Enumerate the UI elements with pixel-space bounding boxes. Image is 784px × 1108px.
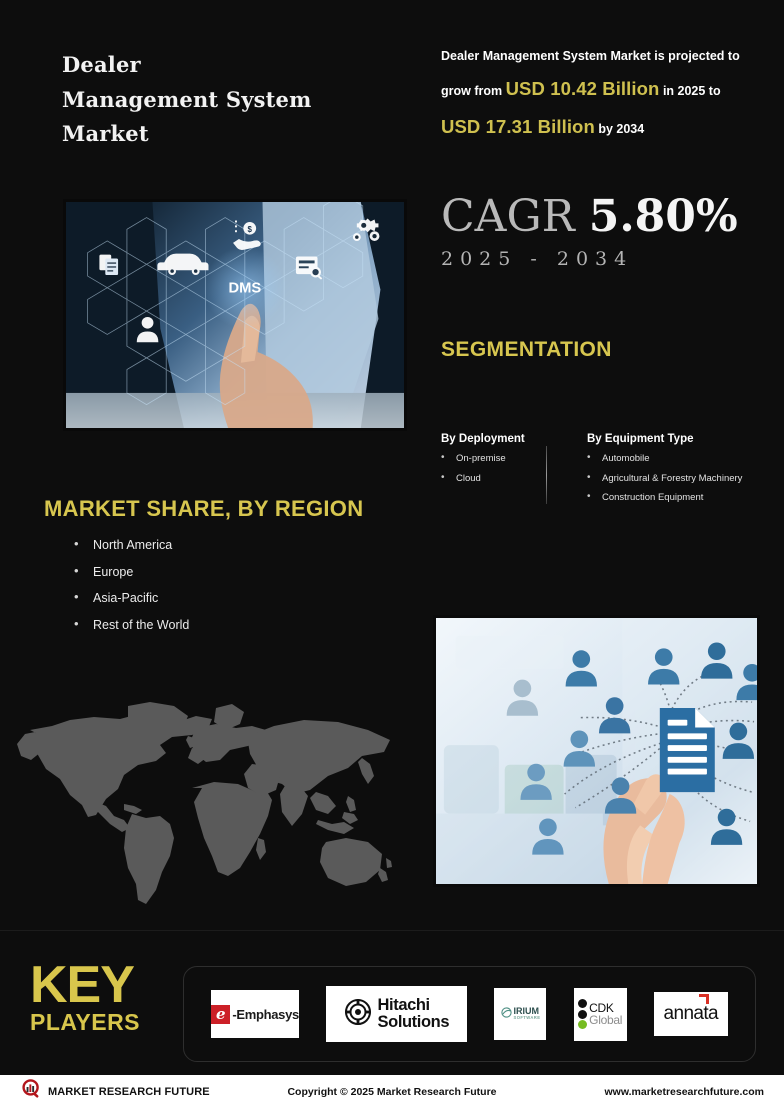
hero-image-dms-hexagons: DMS $	[63, 199, 407, 431]
logo-annata: annata	[654, 992, 728, 1036]
world-map	[0, 692, 420, 920]
segmentation-column-deployment: By Deployment On-premise Cloud	[441, 433, 563, 513]
projection-lead: Dealer Management System Market is proje…	[441, 49, 740, 63]
list-item: Asia-Pacific	[74, 592, 189, 605]
emphasys-mark-icon: e	[211, 1005, 230, 1024]
list-item: On-premise	[441, 454, 563, 464]
key-players-label: KEY PLAYERS	[30, 962, 175, 1035]
page-title-line-1: Dealer	[62, 48, 412, 83]
hitachi-wordmark-line2: Solutions	[378, 1013, 450, 1031]
projection-value-2034: USD 17.31 Billion	[441, 116, 595, 137]
annata-wordmark: annata	[664, 1003, 719, 1024]
segmentation-list-deployment: On-premise Cloud	[441, 454, 563, 483]
hero-image-graphic: DMS $	[66, 202, 404, 428]
emphasys-wordmark: -Emphasys	[232, 1007, 299, 1022]
list-item: Agricultural & Forestry Machinery	[587, 474, 761, 484]
logo-irium-software: IRIUM SOFTWARE	[494, 988, 546, 1040]
list-item: Europe	[74, 566, 189, 579]
segmentation-list-equipment: Automobile Agricultural & Forestry Machi…	[587, 454, 761, 503]
list-item: Automobile	[587, 454, 761, 464]
market-projection-text: Dealer Management System Market is proje…	[441, 44, 751, 145]
cagr-label: CAGR	[441, 191, 575, 242]
cdk-dots-icon	[578, 999, 587, 1029]
hitachi-mark-icon	[345, 999, 371, 1030]
page-title-line-2: Management System	[62, 83, 412, 118]
key-players-divider	[0, 930, 784, 931]
svg-text:$: $	[248, 225, 253, 234]
hero-dms-label: DMS	[228, 281, 261, 297]
segmentation-heading: By Deployment	[441, 433, 563, 445]
annata-mark-icon	[699, 994, 709, 1004]
cagr-block: CAGR 5.80% 2025 - 2034	[441, 195, 761, 270]
list-item: Cloud	[441, 474, 563, 484]
page-title: Dealer Management System Market	[62, 48, 412, 152]
footer-bar: MARKET RESEARCH FUTURE Copyright © 2025 …	[0, 1075, 784, 1108]
projection-value-2025: USD 10.42 Billion	[506, 78, 660, 99]
page-title-line-3: Market	[62, 117, 412, 152]
projection-by-2034: by 2034	[598, 122, 644, 136]
segmentation-column-equipment-type: By Equipment Type Automobile Agricultura…	[563, 433, 761, 513]
irium-subtext: SOFTWARE	[514, 1016, 541, 1020]
key-players-logo-panel: e -Emphasys Hitachi Solutions	[183, 966, 756, 1062]
segmentation-heading: By Equipment Type	[587, 433, 761, 445]
world-map-graphic	[0, 692, 420, 920]
document-icon	[660, 708, 715, 792]
list-item: North America	[74, 539, 189, 552]
network-image-document-people	[433, 615, 760, 887]
footer-url[interactable]: www.marketresearchfuture.com	[604, 1086, 764, 1098]
logo-e-emphasys: e -Emphasys	[211, 990, 299, 1038]
projection-grow-from: grow from	[441, 84, 502, 98]
cagr-value: 5.80%	[589, 191, 738, 242]
key-players-label-players: PLAYERS	[30, 1010, 175, 1035]
hitachi-wordmark-line1: Hitachi	[378, 996, 430, 1014]
key-players-label-key: KEY	[30, 962, 175, 1010]
logo-hitachi-solutions: Hitachi Solutions	[326, 986, 467, 1042]
region-list: North America Europe Asia-Pacific Rest o…	[74, 539, 189, 645]
list-item: Construction Equipment	[587, 493, 761, 503]
irium-mark-icon	[501, 1005, 512, 1023]
segmentation-title: SEGMENTATION	[441, 338, 612, 362]
cagr-headline: CAGR 5.80%	[441, 195, 761, 239]
logo-cdk-global: CDK Global	[574, 988, 627, 1041]
market-share-title: MARKET SHARE, BY REGION	[44, 496, 363, 522]
cagr-year-range: 2025 - 2034	[441, 248, 761, 270]
segmentation-columns: By Deployment On-premise Cloud By Equipm…	[441, 433, 761, 513]
projection-in-2025: in 2025 to	[663, 84, 721, 98]
cdk-wordmark-line2: Global	[589, 1014, 622, 1026]
network-image-graphic	[436, 618, 757, 884]
list-item: Rest of the World	[74, 619, 189, 632]
